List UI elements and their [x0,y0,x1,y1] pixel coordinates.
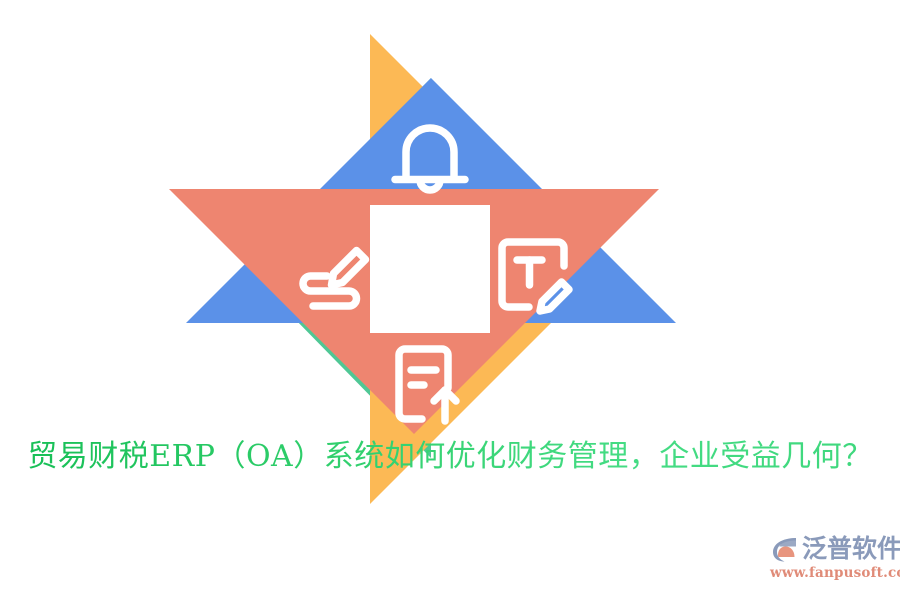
brand-name: 泛普软件 [802,535,900,563]
document-upload-icon [390,343,470,425]
segment-center-white [370,205,490,333]
brand-logo[interactable]: 泛普软件 www.fanpusoft.com [770,534,888,582]
bell-icon [388,119,472,199]
page-title: 贸易财税ERP（OA）系统如何优化财务管理，企业受益几何？ [0,437,900,477]
text-document-edit-icon [495,235,575,315]
brand-url: www.fanpusoft.com [770,565,888,581]
poster-canvas: 贸易财税ERP（OA）系统如何优化财务管理，企业受益几何？ 泛普软件 www.f… [0,0,900,600]
signature-pen-icon [293,236,373,314]
segment-top-blue [186,78,676,323]
oa-diamond-graphic [245,78,605,434]
fanpu-leaf-logo-icon [770,535,798,563]
